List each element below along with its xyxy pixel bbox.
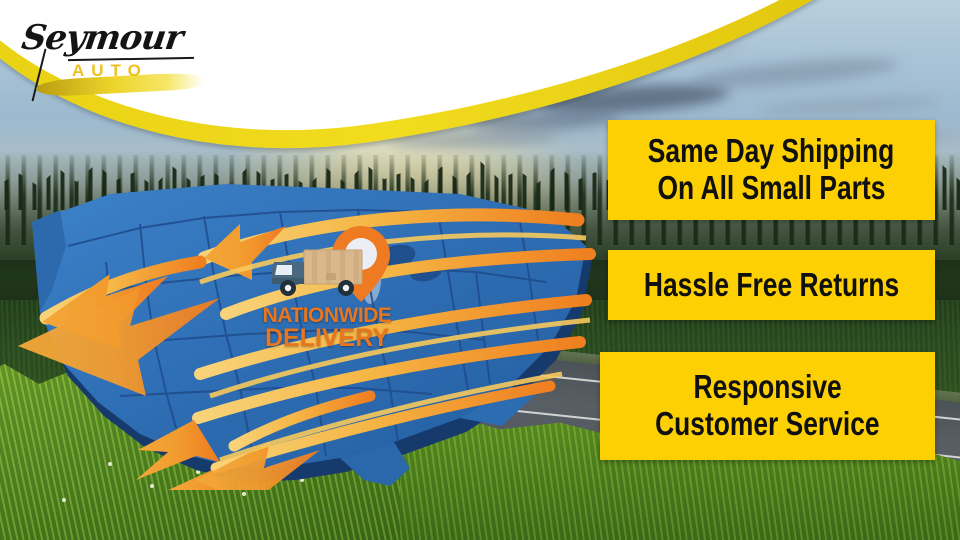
panel-3-line-2: Customer Service [655, 406, 880, 443]
brand-logo[interactable]: Seymour AUTO [22, 18, 212, 96]
nationwide-delivery-caption: NATIONWIDE DELIVERY [252, 305, 402, 352]
promo-banner: Seymour AUTO [0, 0, 960, 540]
grass-flower [242, 492, 246, 496]
logo-subtext: AUTO [72, 61, 148, 81]
caption-line-1: NATIONWIDE [252, 305, 402, 326]
panel-1-line-2: On All Small Parts [658, 170, 886, 207]
logo-wordmark: Seymour [19, 18, 215, 58]
panel-3-line-1: Responsive [693, 369, 841, 406]
feature-panel-same-day-shipping[interactable]: Same Day Shipping On All Small Parts [608, 120, 935, 220]
panel-1-line-1: Same Day Shipping [648, 133, 894, 170]
feature-panel-hassle-free-returns[interactable]: Hassle Free Returns [608, 250, 935, 320]
delivery-truck-icon [268, 248, 372, 300]
grass-flower [62, 498, 66, 502]
feature-panel-responsive-customer-service[interactable]: Responsive Customer Service [600, 352, 935, 460]
caption-line-2: DELIVERY [252, 326, 402, 352]
panel-2-line-1: Hassle Free Returns [644, 267, 899, 304]
